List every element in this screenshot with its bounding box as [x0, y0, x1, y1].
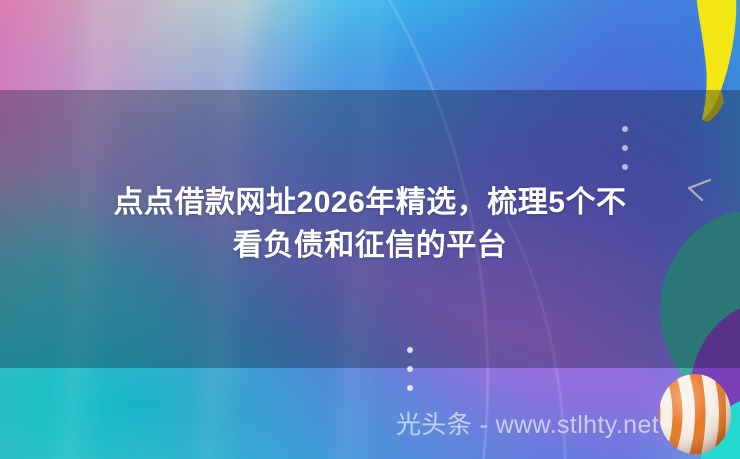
dot-indicator: [407, 347, 413, 353]
dot-indicator: [622, 164, 628, 170]
poster-canvas: 点点借款网址2026年精选，梳理5个不看负债和征信的平台 光头条 - www.s…: [0, 0, 740, 459]
headline-container: 点点借款网址2026年精选，梳理5个不看负债和征信的平台: [0, 182, 740, 267]
dot-group-upper: [622, 126, 628, 170]
striped-ball-graphic: [657, 373, 733, 455]
dot-group-lower: [407, 347, 413, 391]
dot-indicator: [622, 126, 628, 132]
dot-indicator: [622, 145, 628, 151]
page-title: 点点借款网址2026年精选，梳理5个不看负债和征信的平台: [12, 182, 728, 267]
dot-indicator: [407, 366, 413, 372]
page-title-line-2: 看负债和征信的平台: [233, 229, 508, 262]
yellow-ribbon-shape: [678, 0, 740, 124]
page-title-line-1: 点点借款网址2026年精选，梳理5个不: [114, 186, 627, 219]
site-watermark: 光头条 - www.stlhty.net: [396, 405, 659, 441]
dot-indicator: [407, 385, 413, 391]
